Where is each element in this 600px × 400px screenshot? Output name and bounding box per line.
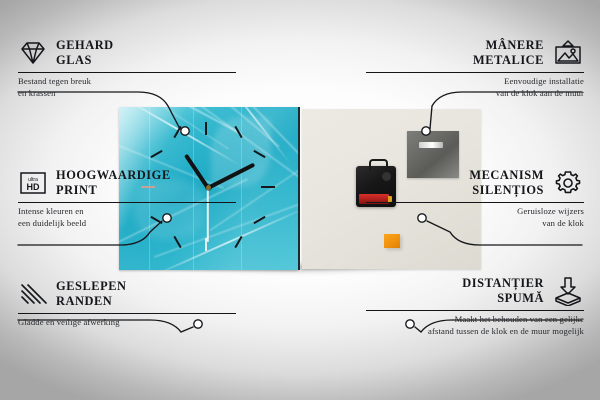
gear-icon (552, 169, 584, 197)
feature-rule (366, 310, 584, 311)
svg-text:HD: HD (27, 182, 40, 192)
feature-distantier-spuma: DISTANȚIER SPUMĂ Maakt het behouden van … (328, 276, 584, 337)
feature-mecanism-silentios: MECANISM SILENȚIOS Geruisloze wijzers va… (328, 168, 584, 229)
feature-header: GESLEPEN RANDEN (18, 279, 274, 309)
feature-title-line1: HOOGWAARDIGE (56, 168, 171, 183)
feature-title-line2: PRINT (56, 183, 171, 198)
feature-subtitle-line1: Intense kleuren en (18, 206, 274, 217)
feature-subtitle-line2: van de klok (328, 218, 584, 229)
feature-rule (18, 72, 236, 73)
feature-title-line1: DISTANȚIER (462, 276, 544, 291)
diamond-icon (18, 40, 48, 66)
feature-subtitle-line1: Eenvoudige installatie (328, 76, 584, 87)
ultra-hd-icon: ultra HD (18, 170, 48, 196)
feature-header: MECANISM SILENȚIOS (328, 168, 584, 198)
feature-title-line1: MÂNERE (473, 38, 544, 53)
feature-title-line2: GLAS (56, 53, 114, 68)
feature-hoogwaardige-print: ultra HD HOOGWAARDIGE PRINT Intense kleu… (18, 168, 274, 229)
framed-picture-hanging-icon (552, 39, 584, 67)
feature-title-line2: RANDEN (56, 294, 127, 309)
feature-header: ultra HD HOOGWAARDIGE PRINT (18, 168, 274, 198)
feature-rule (366, 72, 584, 73)
feature-header: DISTANȚIER SPUMĂ (328, 276, 584, 306)
feature-subtitle-line1: Gladde en veilige afwerking (18, 317, 274, 328)
feature-title-line1: MECANISM (469, 168, 544, 183)
feature-geslepen-randen: GESLEPEN RANDEN Gladde en veilige afwerk… (18, 279, 274, 329)
feature-subtitle-line2: afstand tussen de klok en de muur mogeli… (328, 326, 584, 337)
feature-subtitle-line1: Bestand tegen breuk (18, 76, 274, 87)
feature-rule (366, 202, 584, 203)
feature-subtitle-line2: en krassen (18, 88, 274, 99)
feature-manere-metalice: MÂNERE METALICE Eenvoudige installatie v… (328, 38, 584, 99)
press-down-layers-icon (552, 276, 584, 306)
feature-title-line1: GEHARD (56, 38, 114, 53)
feature-subtitle-line1: Maakt het behouden van een gelijke (328, 314, 584, 325)
hanger-slot (419, 142, 443, 148)
feature-title-line1: GESLEPEN (56, 279, 127, 294)
feature-gehard-glas: GEHARD GLAS Bestand tegen breuk en krass… (18, 38, 274, 99)
feature-rule (18, 202, 236, 203)
feature-subtitle-line1: Geruisloze wijzers (328, 206, 584, 217)
feature-title-line2: METALICE (473, 53, 544, 68)
feature-subtitle-line2: van de klok aan de muur (328, 88, 584, 99)
infographic-canvas: GEHARD GLAS Bestand tegen breuk en krass… (0, 0, 600, 400)
feature-header: MÂNERE METALICE (328, 38, 584, 68)
feature-subtitle-line2: een duidelijk beeld (18, 218, 274, 229)
feature-title-line2: SILENȚIOS (469, 183, 544, 198)
diagonal-lines-icon (18, 281, 48, 307)
feature-rule (18, 313, 236, 314)
feature-title-line2: SPUMĂ (462, 291, 544, 306)
foam-spacer (384, 234, 400, 248)
feature-header: GEHARD GLAS (18, 38, 274, 68)
